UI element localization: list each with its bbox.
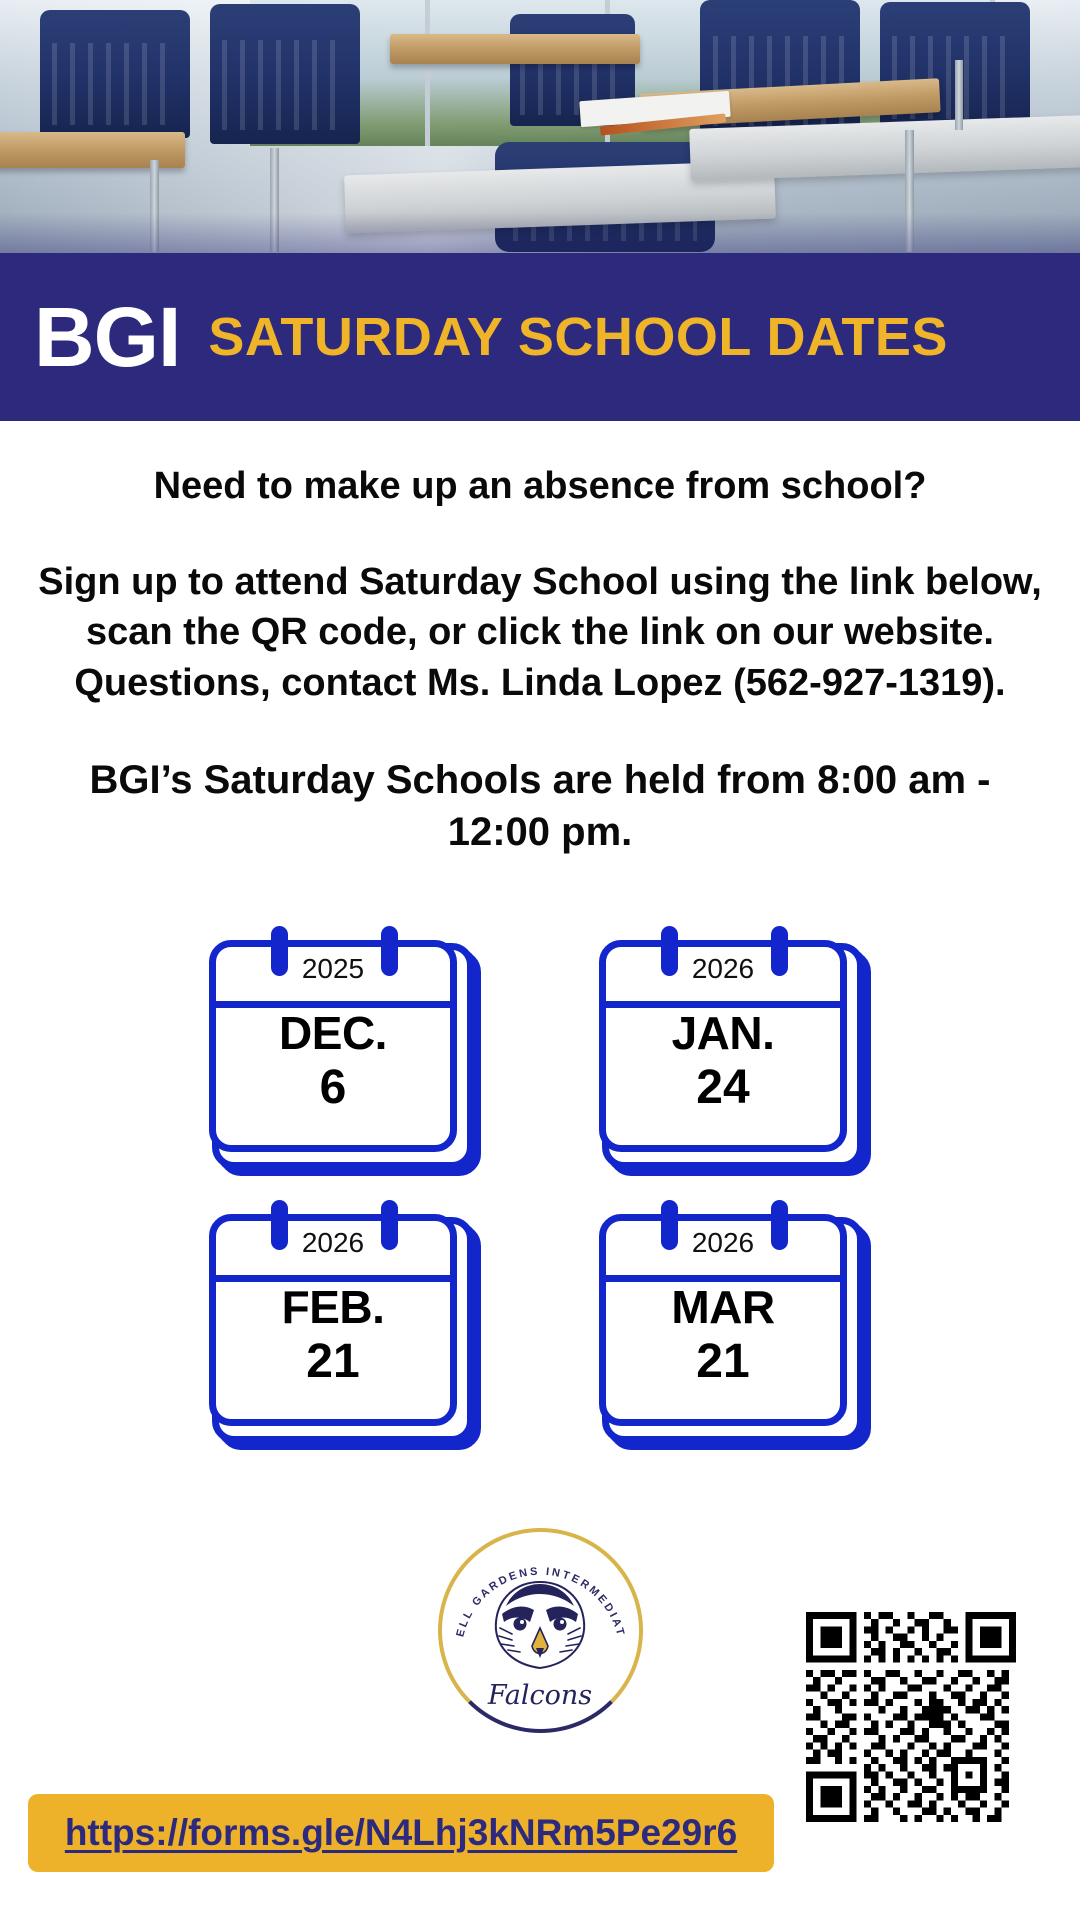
page-title: SATURDAY SCHOOL DATES (208, 309, 948, 366)
brand-bgi: BGI (34, 295, 180, 379)
calendar-month: MAR (606, 1283, 840, 1333)
calendar-face: 2026 MAR 21 (599, 1214, 847, 1426)
signup-link-banner[interactable]: https://forms.gle/N4Lhj3kNRm5Pe29r6 (28, 1794, 774, 1872)
calendar-day: 21 (216, 1337, 450, 1387)
calendar-month: DEC. (216, 1009, 450, 1059)
falcon-head-icon (486, 1578, 594, 1670)
calendar-ring-icon (381, 1200, 398, 1250)
calendar-card: 2026 MAR 21 (599, 1214, 871, 1452)
calendar-face: 2025 DEC. 6 (209, 940, 457, 1152)
calendar-year: 2026 (216, 1227, 450, 1259)
calendar-year: 2025 (216, 953, 450, 985)
calendar-day: 24 (606, 1063, 840, 1113)
calendar-ring-icon (661, 1200, 678, 1250)
instructions-paragraph: Sign up to attend Saturday School using … (36, 557, 1044, 709)
classroom-desk (390, 34, 640, 64)
calendar-card: 2026 JAN. 24 (599, 940, 871, 1178)
calendar-ring-icon (661, 926, 678, 976)
qr-code[interactable] (806, 1612, 1016, 1822)
classroom-photo-hero (0, 0, 1080, 253)
calendar-ring-icon (381, 926, 398, 976)
classroom-chair (210, 4, 360, 144)
calendar-ring-icon (271, 926, 288, 976)
title-banner: BGI SATURDAY SCHOOL DATES (0, 253, 1080, 421)
classroom-chair (40, 10, 190, 138)
calendar-card: 2025 DEC. 6 (209, 940, 481, 1178)
calendar-ring-icon (271, 1200, 288, 1250)
hero-bottom-fade (0, 213, 1080, 253)
calendar-card: 2026 FEB. 21 (209, 1214, 481, 1452)
lead-question: Need to make up an absence from school? (30, 463, 1050, 511)
body-copy: Need to make up an absence from school? … (0, 421, 1080, 858)
calendar-ring-icon (771, 926, 788, 976)
calendar-day: 21 (606, 1337, 840, 1387)
hours-statement: BGI’s Saturday Schools are held from 8:0… (60, 754, 1020, 858)
calendar-year: 2026 (606, 953, 840, 985)
saturday-school-dates-grid: 2025 DEC. 6 2026 JAN. 24 2026 FEB. 21 (0, 940, 1080, 1452)
calendar-year: 2026 (606, 1227, 840, 1259)
logo-script-text: Falcons (438, 1680, 643, 1711)
calendar-face: 2026 JAN. 24 (599, 940, 847, 1152)
signup-url[interactable]: https://forms.gle/N4Lhj3kNRm5Pe29r6 (65, 1812, 737, 1854)
calendar-day: 6 (216, 1063, 450, 1113)
calendar-month: JAN. (606, 1009, 840, 1059)
calendar-face: 2026 FEB. 21 (209, 1214, 457, 1426)
calendar-ring-icon (771, 1200, 788, 1250)
calendar-month: FEB. (216, 1283, 450, 1333)
desk-leg (955, 60, 963, 130)
